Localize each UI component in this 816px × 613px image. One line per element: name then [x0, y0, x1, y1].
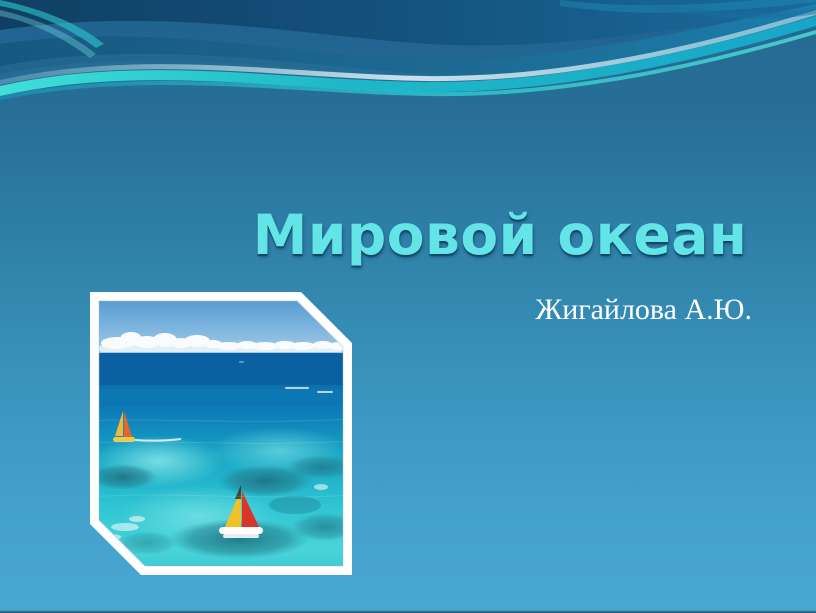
title-container: Мировой океан	[250, 206, 750, 264]
photo-frame	[89, 291, 353, 576]
photo-content	[89, 291, 353, 576]
presentation-slide: Мировой океан Жигайлова А.Ю.	[0, 0, 816, 613]
ocean-photo	[89, 291, 353, 576]
header-wave-decoration	[0, 0, 816, 132]
page-title: Мировой океан	[250, 206, 750, 264]
